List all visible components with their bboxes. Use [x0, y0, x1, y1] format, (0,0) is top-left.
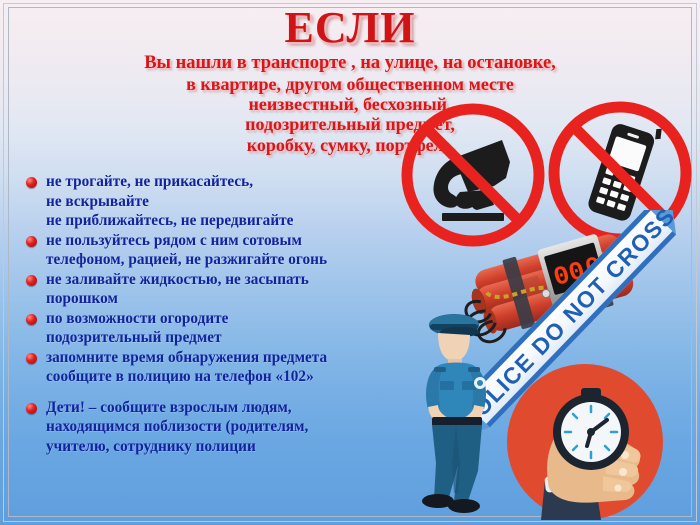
bullet-dot-icon	[26, 275, 37, 286]
list-item: запомните время обнаружения предмета соо…	[26, 348, 418, 387]
stopwatch-icon	[503, 360, 668, 525]
instruction-line: не заливайте жидкостью, не засыпать	[46, 270, 418, 290]
list-spacer	[26, 387, 418, 398]
instruction-line: Дети! – сообщите взрослым людям,	[46, 398, 418, 418]
instruction-line: порошком	[46, 289, 418, 309]
instruction-line: телефоном, рацией, не разжигайте огонь	[46, 250, 418, 270]
page-title: ЕСЛИ	[0, 6, 700, 51]
police-officer-figure	[404, 303, 516, 515]
instruction-line: не пользуйтесь рядом с ним сотовым	[46, 231, 418, 251]
instruction-line: подозрительный предмет	[46, 328, 418, 348]
list-item: не трогайте, не прикасайтесь, не вскрыва…	[26, 172, 418, 231]
bullet-dot-icon	[26, 353, 37, 364]
instruction-line: не вскрывайте	[46, 192, 418, 212]
bullet-dot-icon	[26, 177, 37, 188]
list-item: не заливайте жидкостью, не засыпать поро…	[26, 270, 418, 309]
bullet-dot-icon	[26, 314, 37, 325]
safety-poster: ЕСЛИ Вы нашли в транспорте , на улице, н…	[0, 0, 700, 525]
list-item: не пользуйтесь рядом с ним сотовым телеф…	[26, 231, 418, 270]
subtitle-line-1: Вы нашли в транспорте , на улице, на ост…	[0, 53, 700, 74]
instructions-list: не трогайте, не прикасайтесь, не вскрыва…	[26, 172, 418, 456]
instruction-line: учителю, сотруднику полиции	[46, 437, 418, 457]
instruction-line: сообщите в полицию на телефон «102»	[46, 367, 418, 387]
subtitle-line-2: в квартире, другом общественном месте	[0, 74, 700, 94]
instruction-line: не приближайтесь, не передвигайте	[46, 211, 418, 231]
instruction-line: по возможности огородите	[46, 309, 418, 329]
bullet-dot-icon	[26, 403, 37, 414]
bullet-dot-icon	[26, 236, 37, 247]
instruction-line: запомните время обнаружения предмета	[46, 348, 418, 368]
list-item: по возможности огородите подозрительный …	[26, 309, 418, 348]
instruction-line: находящимся поблизости (родителям,	[46, 417, 418, 437]
instruction-line: не трогайте, не прикасайтесь,	[46, 172, 418, 192]
list-item: Дети! – сообщите взрослым людям, находящ…	[26, 398, 418, 457]
